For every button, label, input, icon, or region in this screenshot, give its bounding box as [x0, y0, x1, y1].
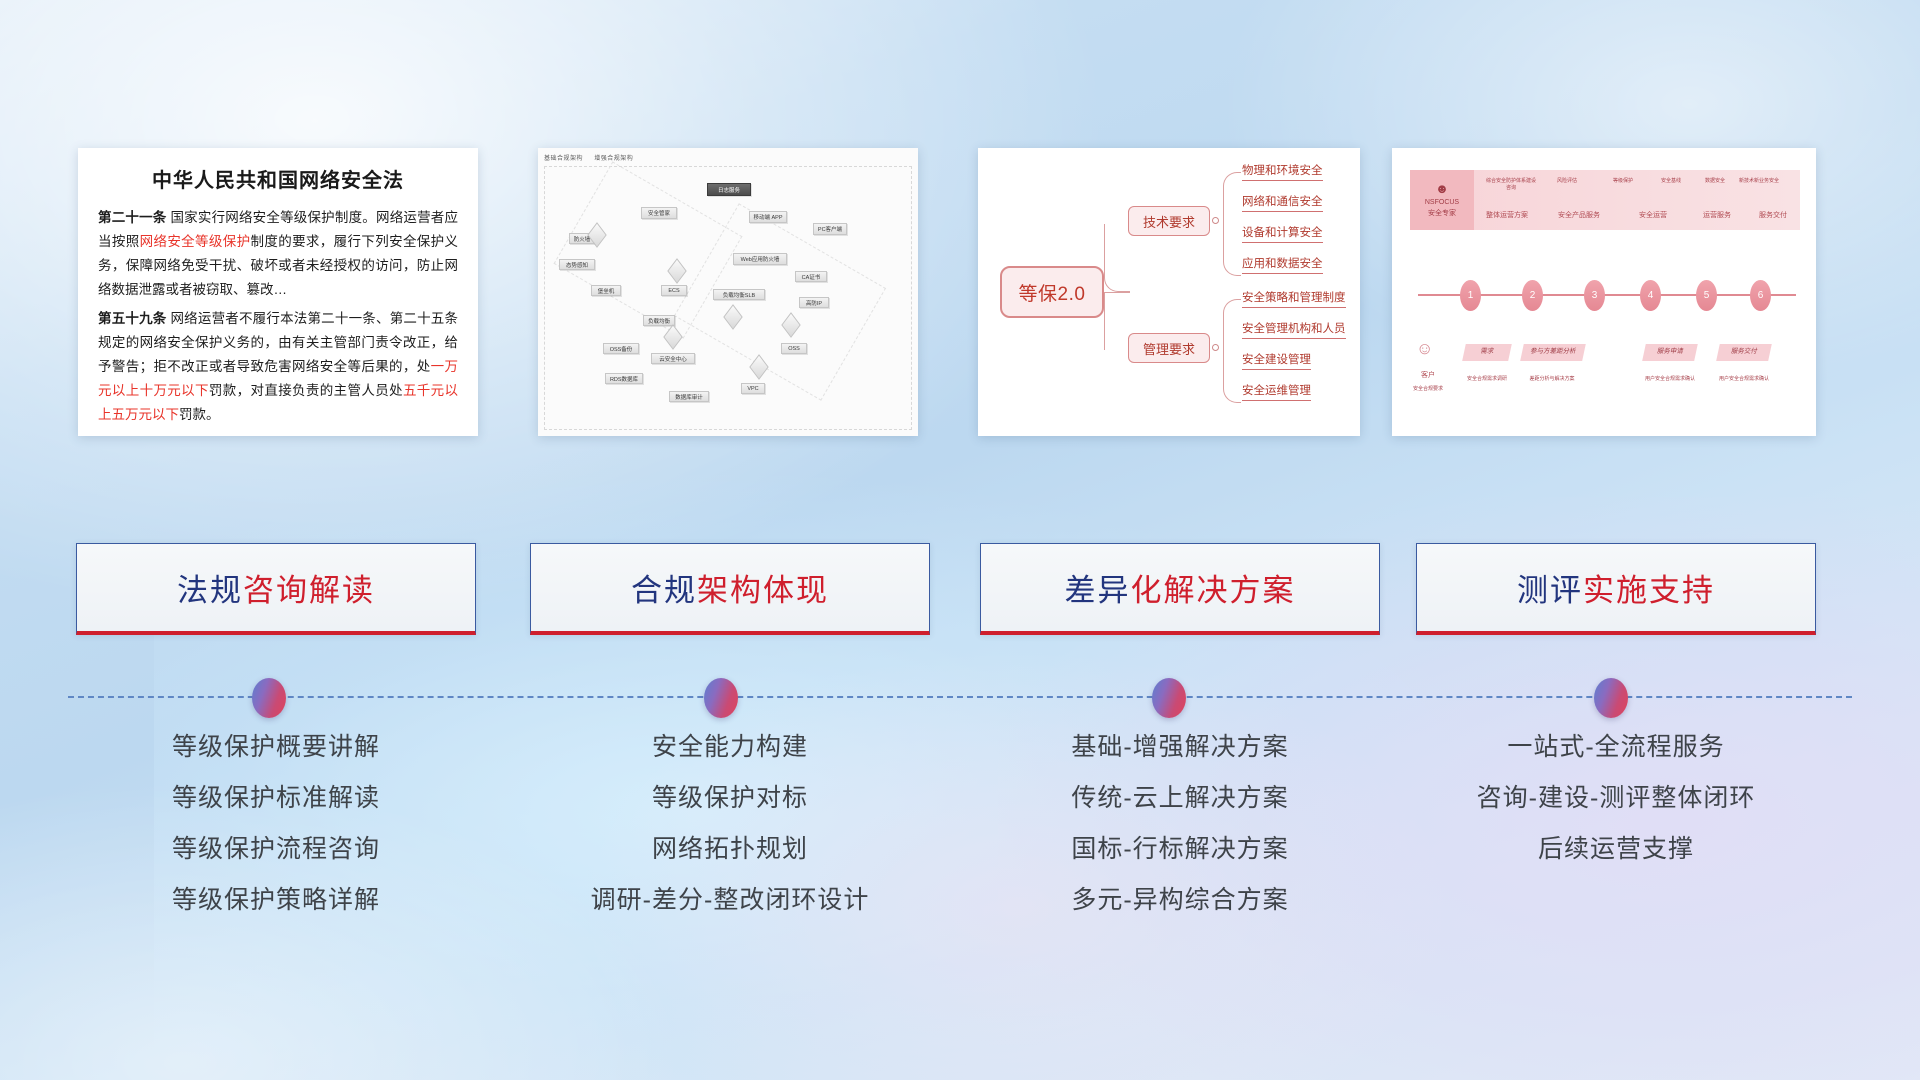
mindmap-leaf-device-compute: 设备和计算安全	[1242, 224, 1323, 243]
nsfocus-chip-0: 综合安全防护体系建设咨询	[1484, 178, 1538, 191]
list-item: 等级保护概要讲解	[76, 735, 476, 760]
heading-4-blue: 测评	[1517, 573, 1583, 608]
customer-person-icon: ☺	[1416, 340, 1433, 357]
nsfocus-brand-name: NSFOCUS	[1425, 199, 1459, 208]
list-item: 咨询-建设-测评整体闭环	[1416, 786, 1816, 811]
nsfocus-tag-0-title: 需求	[1462, 344, 1512, 361]
person-icon: ☻	[1435, 181, 1449, 197]
nsfocus-chip-5: 新技术新业务安全	[1732, 178, 1786, 185]
nsfocus-chip-1: 风险评估	[1540, 178, 1594, 185]
card-mindmap[interactable]: 等保2.0 技术要求 管理要求 物理和环境安全 网络和通信安全 设备和计算安全 …	[978, 148, 1360, 436]
node-mobile-app: 移动端 APP	[749, 211, 787, 223]
section-heading-box-4[interactable]: 测评实施支持	[1416, 543, 1816, 635]
feature-list-column-3: 基础-增强解决方案 传统-云上解决方案 国标-行标解决方案 多元-异构综合方案	[980, 735, 1380, 939]
article-21-label: 第二十一条	[98, 210, 167, 225]
list-item: 传统-云上解决方案	[980, 786, 1380, 811]
nsfocus-chip-2: 等级保护	[1596, 178, 1650, 185]
mindmap-branch-technical: 技术要求	[1128, 206, 1210, 236]
section-heading-text-1: 法规咨询解读	[177, 565, 375, 610]
list-item: 等级保护策略详解	[76, 888, 476, 913]
nsfocus-step-2[interactable]: 2	[1522, 280, 1543, 311]
heading-4-red: 实施支持	[1583, 573, 1715, 608]
feature-list-row: 等级保护概要讲解 等级保护标准解读 等级保护流程咨询 等级保护策略详解 安全能力…	[0, 735, 1920, 975]
feature-list-column-2: 安全能力构建 等级保护对标 网络拓扑规划 调研-差分-整改闭环设计	[530, 735, 930, 939]
nsfocus-sub-1: 安全产品服务	[1550, 210, 1608, 220]
nsfocus-tag-3-title: 服务交付	[1716, 344, 1772, 361]
nsfocus-brand-badge: ☻ NSFOCUS 安全专家	[1410, 170, 1474, 230]
node-ecs: ECS	[661, 285, 687, 296]
nsfocus-step-6[interactable]: 6	[1750, 280, 1771, 311]
architecture-tabs: 基础合规架构 增强合规架构	[544, 153, 642, 162]
heading-1-blue: 法规	[177, 573, 243, 608]
nsfocus-customer-sub: 安全合规要求	[1400, 386, 1456, 393]
mindmap-collapse-dot-tech[interactable]	[1212, 217, 1219, 224]
legal-document-title: 中华人民共和国网络安全法	[98, 164, 458, 193]
timeline	[0, 660, 1920, 720]
card-nsfocus-infographic[interactable]: ☻ NSFOCUS 安全专家 综合安全防护体系建设咨询 风险评估 等级保护 安全…	[1392, 148, 1816, 436]
section-heading-text-2: 合规架构体现	[631, 565, 829, 610]
nsfocus-sub-3: 运营服务	[1688, 210, 1746, 220]
card-cloud-architecture[interactable]: 基础合规架构 增强合规架构 日志服务 安全管家 防火墙 态势感知 堡垒机 移动端…	[538, 148, 918, 436]
nsfocus-brand-sub: 安全专家	[1428, 210, 1456, 219]
nsfocus-step-4[interactable]: 4	[1640, 280, 1661, 311]
node-bastion: 安全管家	[641, 207, 677, 219]
nsfocus-tag-2-title: 服务申请	[1642, 344, 1698, 361]
list-item: 调研-差分-整改闭环设计	[530, 888, 930, 913]
timeline-dot-2[interactable]	[704, 678, 738, 718]
architecture-diagram: 基础合规架构 增强合规架构 日志服务 安全管家 防火墙 态势感知 堡垒机 移动端…	[538, 148, 918, 436]
mindmap-leaf-physical-env: 物理和环境安全	[1242, 162, 1323, 181]
mindmap-curve-t1	[1223, 172, 1241, 224]
heading-3-blue: 差异	[1065, 573, 1131, 608]
node-db-audit: 数据库审计	[669, 391, 709, 402]
node-situation-awareness: 态势感知	[559, 259, 595, 270]
heading-2-blue: 合规	[631, 573, 697, 608]
image-card-row: 中华人民共和国网络安全法 第二十一条 国家实行网络安全等级保护制度。网络运营者应…	[0, 148, 1920, 448]
section-heading-box-1[interactable]: 法规咨询解读	[76, 543, 476, 635]
architecture-tab-basic[interactable]: 基础合规架构	[544, 156, 583, 162]
timeline-dashed-line	[68, 696, 1852, 698]
node-slb: 负载均衡SLB	[713, 289, 765, 300]
nsfocus-sub-0: 整体运营方案	[1478, 210, 1536, 220]
mindmap-branch-management: 管理要求	[1128, 333, 1210, 363]
mindmap-curve-tech	[1104, 224, 1130, 292]
section-heading-text-4: 测评实施支持	[1517, 565, 1715, 610]
section-heading-text-3: 差异化解决方案	[1065, 565, 1296, 610]
list-item: 网络拓扑规划	[530, 837, 930, 862]
list-item: 多元-异构综合方案	[980, 888, 1380, 913]
mindmap-curve-t2	[1223, 224, 1241, 276]
node-oss: OSS	[781, 343, 807, 354]
mindmap-curve-mgmt	[1104, 292, 1130, 350]
list-item: 后续运营支撑	[1416, 837, 1816, 862]
node-vpc: VPC	[741, 383, 765, 394]
nsfocus-step-3[interactable]: 3	[1584, 280, 1605, 311]
node-security-center: 负载均衡	[643, 315, 675, 326]
list-item: 一站式-全流程服务	[1416, 735, 1816, 760]
mindmap-leaf-build-mgmt: 安全建设管理	[1242, 351, 1311, 370]
timeline-dot-1[interactable]	[252, 678, 286, 718]
mindmap-collapse-dot-mgmt[interactable]	[1212, 344, 1219, 351]
section-heading-row: 法规咨询解读 合规架构体现 差异化解决方案 测评实施支持	[0, 543, 1920, 635]
node-log-service: 日志服务	[707, 183, 751, 196]
article-59-text-3: 罚款。	[179, 407, 220, 422]
nsfocus-tag-0-sub: 安全合规需求调研	[1458, 376, 1516, 383]
list-item: 基础-增强解决方案	[980, 735, 1380, 760]
legal-article-59: 第五十九条 网络运营者不履行本法第二十一条、第二十五条规定的网络安全保护义务的，…	[98, 307, 458, 427]
node-cloud-security: 云安全中心	[651, 353, 695, 364]
nsfocus-diagram: ☻ NSFOCUS 安全专家 综合安全防护体系建设咨询 风险评估 等级保护 安全…	[1392, 148, 1816, 436]
timeline-dot-4[interactable]	[1594, 678, 1628, 718]
nsfocus-sub-2: 安全运营	[1624, 210, 1682, 220]
mindmap-leaf-network-comm: 网络和通信安全	[1242, 193, 1323, 212]
section-heading-box-2[interactable]: 合规架构体现	[530, 543, 930, 635]
list-item: 安全能力构建	[530, 735, 930, 760]
nsfocus-tag-3-sub: 用户安全合规需求确认	[1714, 376, 1774, 383]
mindmap-curve-m1	[1223, 299, 1241, 351]
nsfocus-tag-2-sub: 用户安全合规需求确认	[1640, 376, 1700, 383]
node-pc-client: PC客户端	[813, 223, 847, 235]
nsfocus-sub-4: 服务交付	[1744, 210, 1802, 220]
article-59-label: 第五十九条	[98, 311, 167, 326]
timeline-dot-3[interactable]	[1152, 678, 1186, 718]
feature-list-column-4: 一站式-全流程服务 咨询-建设-测评整体闭环 后续运营支撑	[1416, 735, 1816, 888]
heading-3-red: 化解决方案	[1131, 573, 1296, 608]
legal-document-body: 中华人民共和国网络安全法 第二十一条 国家实行网络安全等级保护制度。网络运营者应…	[78, 148, 478, 436]
list-item: 等级保护流程咨询	[76, 837, 476, 862]
node-rds: RDS数据库	[605, 373, 643, 384]
slide-content: 中华人民共和国网络安全法 第二十一条 国家实行网络安全等级保护制度。网络运营者应…	[0, 0, 1920, 1080]
mindmap-leaf-ops-mgmt: 安全运维管理	[1242, 382, 1311, 401]
mindmap-diagram: 等保2.0 技术要求 管理要求 物理和环境安全 网络和通信安全 设备和计算安全 …	[978, 148, 1360, 436]
node-anti-ddos: 高防IP	[799, 297, 829, 308]
mindmap-leaf-org-personnel: 安全管理机构和人员	[1242, 320, 1346, 339]
legal-article-21: 第二十一条 国家实行网络安全等级保护制度。网络运营者应当按照网络安全等级保护制度…	[98, 206, 458, 302]
node-ca-cert: CA证书	[795, 271, 827, 282]
mindmap-curve-m2	[1223, 351, 1241, 403]
nsfocus-customer-label: 客户	[1404, 370, 1452, 380]
section-heading-box-3[interactable]: 差异化解决方案	[980, 543, 1380, 635]
heading-1-red: 咨询解读	[243, 573, 375, 608]
node-waf: Web应用防火墙	[733, 253, 787, 265]
article-21-highlight: 网络安全等级保护	[140, 234, 251, 249]
node-bastion-host: 堡垒机	[591, 285, 621, 296]
mindmap-root-node: 等保2.0	[1000, 266, 1104, 318]
nsfocus-tag-1-sub: 差距分析与解决方案	[1520, 376, 1584, 383]
list-item: 等级保护标准解读	[76, 786, 476, 811]
card-legal-document[interactable]: 中华人民共和国网络安全法 第二十一条 国家实行网络安全等级保护制度。网络运营者应…	[78, 148, 478, 436]
node-oss-backup: OSS备份	[603, 343, 639, 354]
article-59-text-2: 罚款，对直接负责的主管人员处	[209, 383, 403, 398]
mindmap-leaf-policy-system: 安全策略和管理制度	[1242, 289, 1346, 308]
feature-list-column-1: 等级保护概要讲解 等级保护标准解读 等级保护流程咨询 等级保护策略详解	[76, 735, 476, 939]
architecture-canvas: 日志服务 安全管家 防火墙 态势感知 堡垒机 移动端 APP PC客户端 Web…	[544, 166, 912, 430]
nsfocus-step-5[interactable]: 5	[1696, 280, 1717, 311]
list-item: 国标-行标解决方案	[980, 837, 1380, 862]
mindmap-leaf-app-data: 应用和数据安全	[1242, 255, 1323, 274]
heading-2-red: 架构体现	[697, 573, 829, 608]
nsfocus-tag-1-title: 参与方差距分析	[1520, 344, 1586, 361]
nsfocus-step-1[interactable]: 1	[1460, 280, 1481, 311]
list-item: 等级保护对标	[530, 786, 930, 811]
